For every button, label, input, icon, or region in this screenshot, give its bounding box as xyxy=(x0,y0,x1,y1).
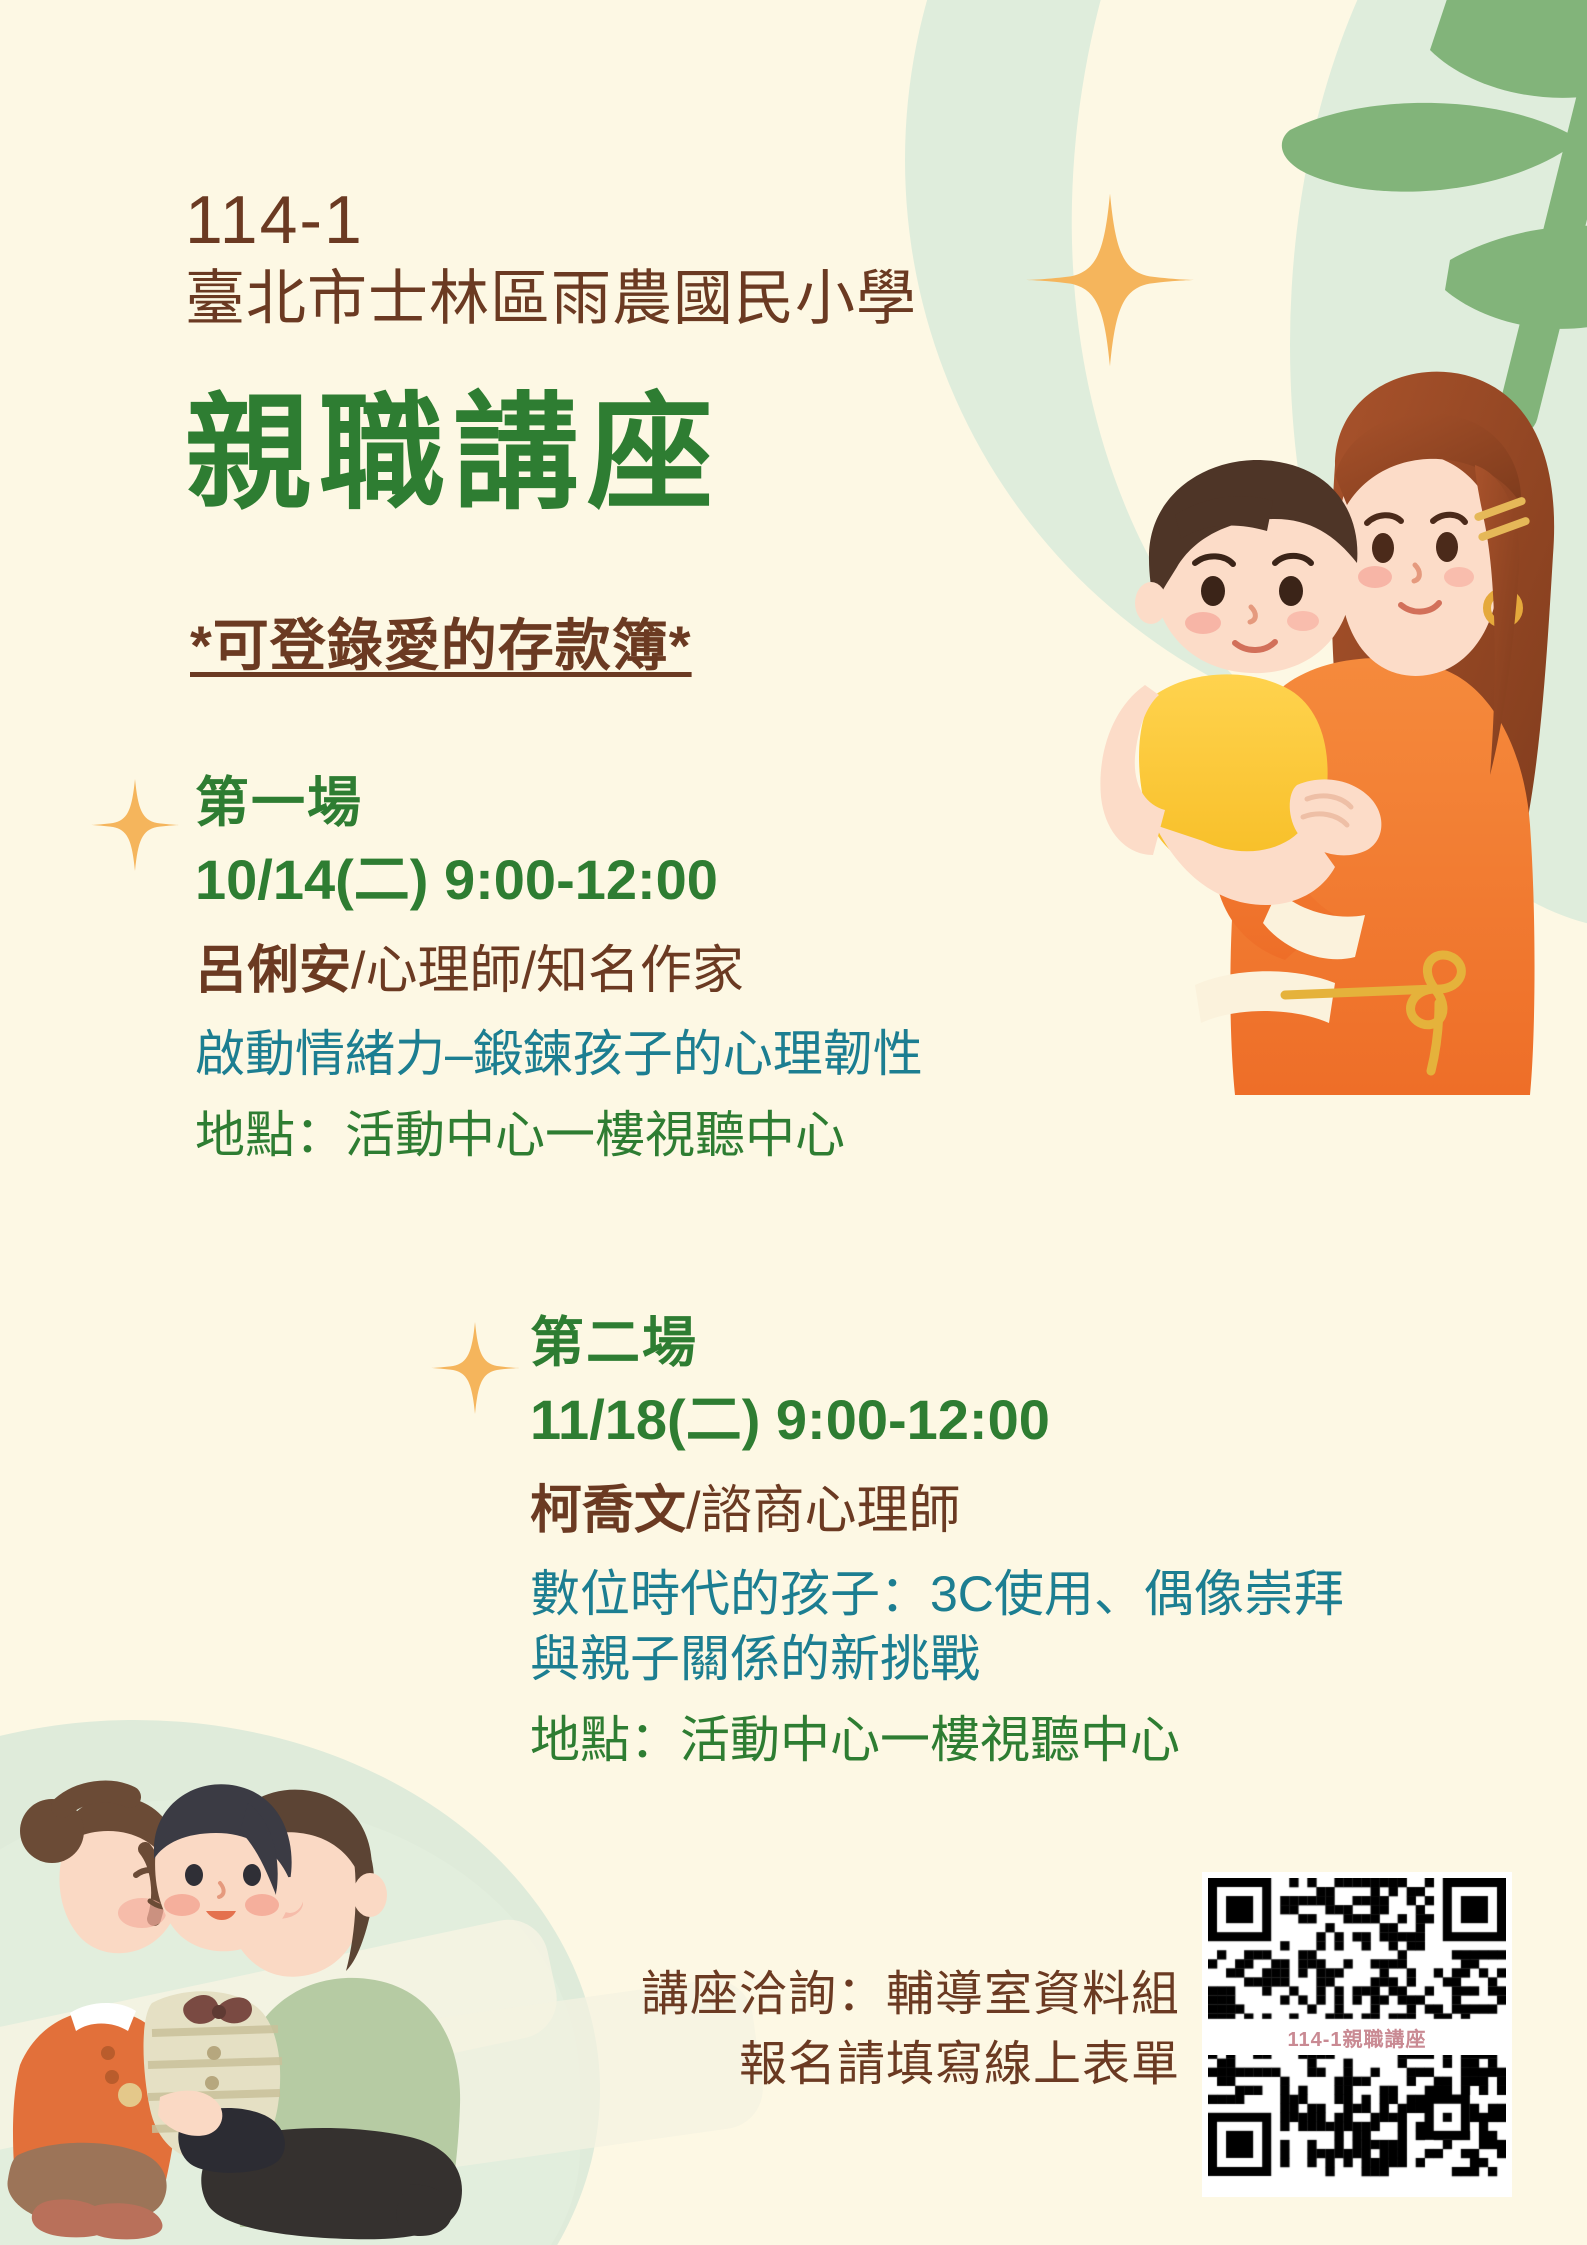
term-code: 114-1 xyxy=(185,185,917,256)
session-2-place: 地點：活動中心一樓視聽中心 xyxy=(530,1708,1344,1773)
session-2-speaker-name: 柯喬文 xyxy=(530,1482,686,1540)
session-2-topic-line2: 與親子關係的新挑戰 xyxy=(530,1627,1344,1692)
contact-line-1: 講座洽詢：輔導室資料組 xyxy=(560,1960,1180,2030)
subtitle-note: *可登錄愛的存款簿* xyxy=(190,601,692,682)
family-illustration xyxy=(0,1765,490,2245)
session-1-datetime: 10/14(二) 9:00-12:00 xyxy=(195,844,923,917)
session-1-label: 第一場 xyxy=(195,770,923,838)
session-1-speaker: 呂俐安/心理師/知名作家 xyxy=(195,936,923,1006)
session-2-speaker-role: /諮商心理師 xyxy=(686,1482,960,1540)
school-name: 臺北市士林區雨農國民小學 xyxy=(185,260,917,338)
session-1-speaker-role: /心理師/知名作家 xyxy=(351,942,744,1000)
session-1-topic: 啟動情緒力–鍛鍊孩子的心理韌性 xyxy=(195,1022,923,1087)
session-2-datetime: 11/18(二) 9:00-12:00 xyxy=(530,1384,1344,1457)
page-title: 親職講座 xyxy=(185,385,721,524)
session-2-label: 第二場 xyxy=(530,1310,1344,1378)
mother-and-child-illustration xyxy=(1035,355,1587,1175)
session-2-topic-line1: 數位時代的孩子：3C使用、偶像崇拜 xyxy=(530,1562,1344,1627)
session-block-2: 第二場 11/18(二) 9:00-12:00 柯喬文/諮商心理師 數位時代的孩… xyxy=(530,1310,1344,1773)
session-1-speaker-name: 呂俐安 xyxy=(195,942,351,1000)
poster-header: 114-1 臺北市士林區雨農國民小學 xyxy=(185,185,917,338)
contact-line-2: 報名請填寫線上表單 xyxy=(560,2030,1180,2100)
session-1-place: 地點：活動中心一樓視聽中心 xyxy=(195,1103,923,1168)
sparkle-icon-header xyxy=(1020,190,1200,370)
sparkle-icon-session-1 xyxy=(85,775,185,880)
qr-code[interactable]: 114-1親職講座 xyxy=(1202,1872,1512,2197)
sparkle-icon-session-2 xyxy=(425,1318,525,1423)
session-2-topic: 數位時代的孩子：3C使用、偶像崇拜 與親子關係的新挑戰 xyxy=(530,1562,1344,1692)
contact-info: 講座洽詢：輔導室資料組 報名請填寫線上表單 xyxy=(560,1960,1180,2099)
poster-root: 114-1 臺北市士林區雨農國民小學 親職講座 *可登錄愛的存款簿* 第一場 1… xyxy=(0,0,1587,2245)
qr-code-label: 114-1親職講座 xyxy=(1202,2020,1512,2055)
session-2-speaker: 柯喬文/諮商心理師 xyxy=(530,1476,1344,1546)
session-block-1: 第一場 10/14(二) 9:00-12:00 呂俐安/心理師/知名作家 啟動情… xyxy=(195,770,923,1168)
